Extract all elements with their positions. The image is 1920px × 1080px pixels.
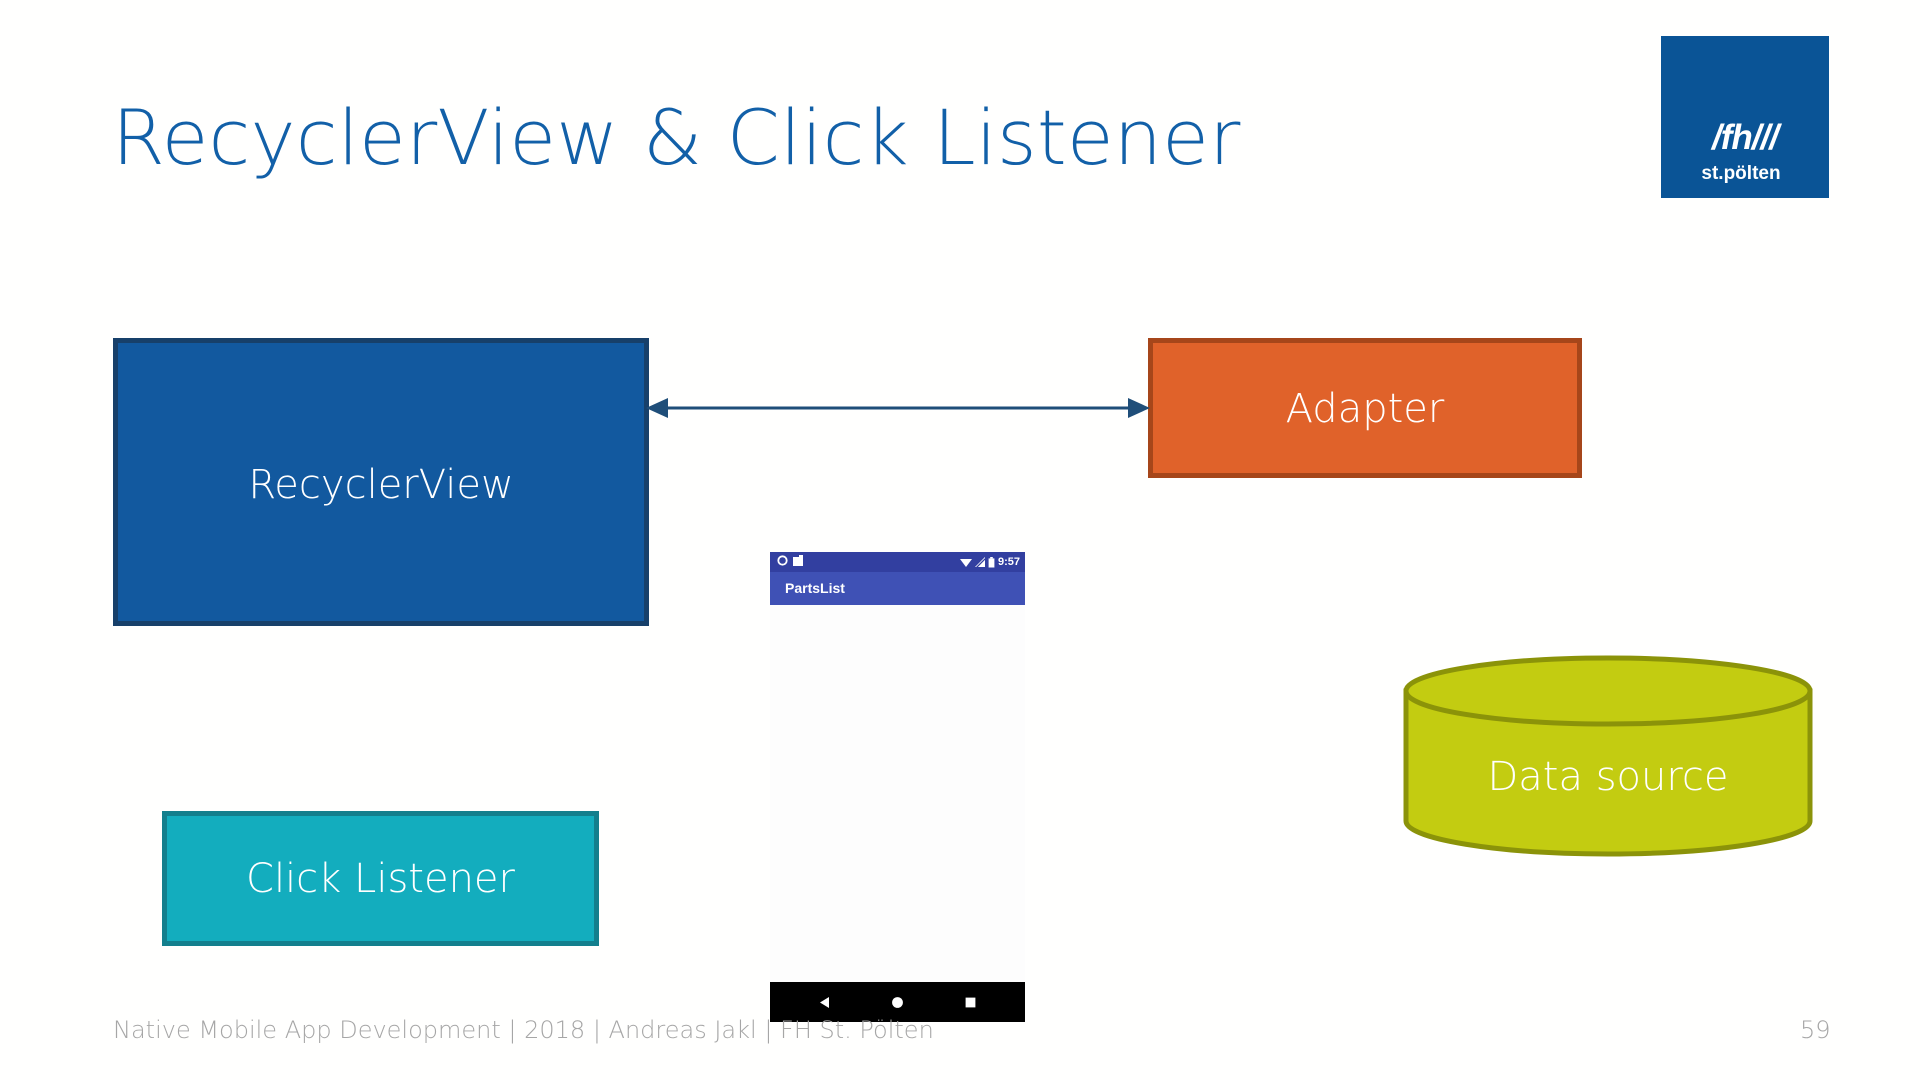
wifi-icon xyxy=(960,557,972,568)
phone-status-bar: 9:57 xyxy=(770,552,1025,572)
signal-icon xyxy=(975,557,985,568)
diagram-shape-data-source: Data source xyxy=(1403,654,1813,858)
shape-label-adapter: Adapter xyxy=(1153,389,1577,429)
phone-app-bar: PartsList xyxy=(770,572,1025,605)
footer-credit: Native Mobile App Development | 2018 | A… xyxy=(113,1018,934,1042)
fh-stpoelten-logo: /fh/// st.pölten xyxy=(1661,36,1829,198)
page-number: 59 xyxy=(1800,1018,1860,1042)
double-headed-arrow-icon xyxy=(644,392,1152,424)
logo-wordmark: /fh/// xyxy=(1661,120,1829,155)
battery-icon xyxy=(988,557,995,568)
status-bar-right-icons: 9:57 xyxy=(960,555,1020,569)
app-bar-title: PartsList xyxy=(785,581,845,595)
diagram-shape-recyclerview: RecyclerView xyxy=(113,338,649,626)
recents-icon[interactable] xyxy=(964,996,977,1009)
diagram-shape-click-listener: Click Listener xyxy=(162,811,599,946)
home-icon[interactable] xyxy=(891,996,904,1009)
slide-canvas: /fh/// st.pölten RecyclerView & Click Li… xyxy=(0,0,1920,1080)
phone-content-area xyxy=(770,605,1025,982)
shape-label-click-listener: Click Listener xyxy=(167,859,594,899)
phone-screenshot: 9:57 PartsList xyxy=(770,552,1025,1022)
page-title: RecyclerView & Click Listener xyxy=(112,96,1241,180)
notification-circle-icon xyxy=(777,555,788,566)
status-bar-left-icons xyxy=(777,555,803,566)
status-bar-clock: 9:57 xyxy=(998,555,1020,569)
screenshot-icon xyxy=(793,555,803,566)
logo-subtitle: st.pölten xyxy=(1661,164,1829,183)
shape-label-recyclerview: RecyclerView xyxy=(118,465,644,505)
diagram-shape-adapter: Adapter xyxy=(1148,338,1582,478)
shape-label-data-source: Data source xyxy=(1403,757,1813,797)
back-icon[interactable] xyxy=(818,996,831,1009)
connector-recyclerview-adapter xyxy=(644,392,1152,424)
